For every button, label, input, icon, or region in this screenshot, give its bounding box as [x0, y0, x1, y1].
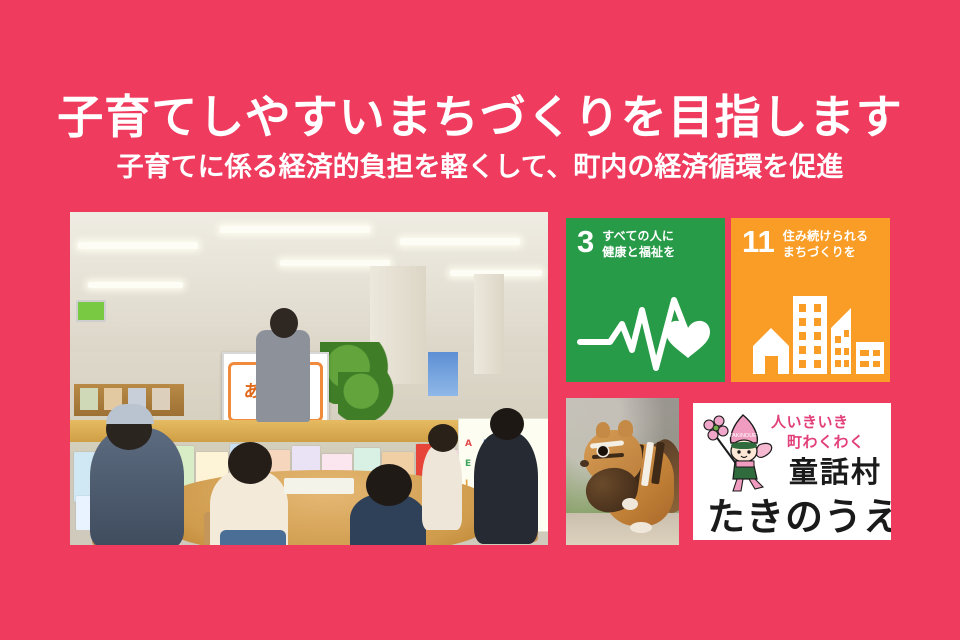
- chipmunk-ear: [596, 422, 610, 438]
- logo-catchphrase-line-1: 人いきいき: [771, 411, 849, 432]
- ceiling-light: [88, 282, 183, 288]
- pillar: [474, 274, 504, 374]
- page-title: 子育てしやすいまちづくりを目指します: [0, 92, 960, 143]
- sdg-badge-3-label: すべての人に 健康と福祉を: [602, 228, 675, 261]
- potted-plant: [338, 372, 396, 420]
- page-subtitle: 子育てに係る経済的負担を軽くして、町内の経済循環を促進: [0, 152, 960, 183]
- ceiling-light: [78, 242, 198, 249]
- promo-slide: 子育てしやすいまちづくりを目指します 子育てに係る経済的負担を軽くして、町内の経…: [0, 0, 960, 640]
- pink-fairy-mascot-icon: TAKINOUE: [703, 409, 781, 495]
- takinoue-town-logo[interactable]: TAKINOUE 人いきいき 町わくわく 童話村 たきのうえ: [688, 398, 896, 545]
- adult-right-head: [490, 408, 524, 440]
- book-on-table: [284, 478, 354, 494]
- cabinet-item: [80, 388, 98, 410]
- child-center-head: [228, 442, 272, 484]
- logo-town-name-text: たきのうえ: [707, 486, 896, 541]
- child-standing: [422, 444, 462, 530]
- cabinet-item: [152, 388, 170, 410]
- logo-doowamura-text: 童話村: [789, 449, 882, 491]
- sdg-badge-11-number: 11: [742, 228, 775, 257]
- adult-right: [474, 432, 538, 544]
- standing-adult-head: [270, 308, 298, 338]
- ceiling-light: [220, 226, 370, 233]
- child-right-head: [366, 464, 412, 506]
- chipmunk-foot: [630, 522, 652, 533]
- chipmunk-photo: [566, 398, 679, 545]
- sdg-badge-3-number: 3: [577, 228, 594, 257]
- chipmunk-paw: [622, 498, 638, 510]
- sdg-badge-11-heading: 11 住み続けられる まちづくりを: [742, 228, 868, 261]
- sdg-badge-3[interactable]: 3 すべての人に 健康と福祉を: [566, 218, 725, 382]
- library-photo: あひ そ: [70, 212, 548, 545]
- wall-poster: [428, 352, 458, 396]
- standing-adult: [256, 330, 310, 422]
- chipmunk-nose: [580, 460, 589, 467]
- svg-text:TAKINOUE: TAKINOUE: [729, 433, 757, 439]
- sdg-badge-11-label: 住み続けられる まちづくりを: [783, 228, 868, 261]
- ceiling-light: [400, 238, 520, 245]
- cityscape-buildings-icon: [731, 280, 890, 382]
- chipmunk-eye: [598, 446, 608, 456]
- exit-sign-icon: [76, 300, 106, 322]
- sdg-badge-11[interactable]: 11 住み続けられる まちづくりを: [731, 218, 890, 382]
- heartbeat-heart-icon: [566, 280, 725, 382]
- child-standing-head: [428, 424, 458, 452]
- child-center-pants: [220, 530, 286, 545]
- chipmunk-ear: [618, 420, 633, 437]
- sdg-badge-3-heading: 3 すべての人に 健康と福祉を: [577, 228, 675, 261]
